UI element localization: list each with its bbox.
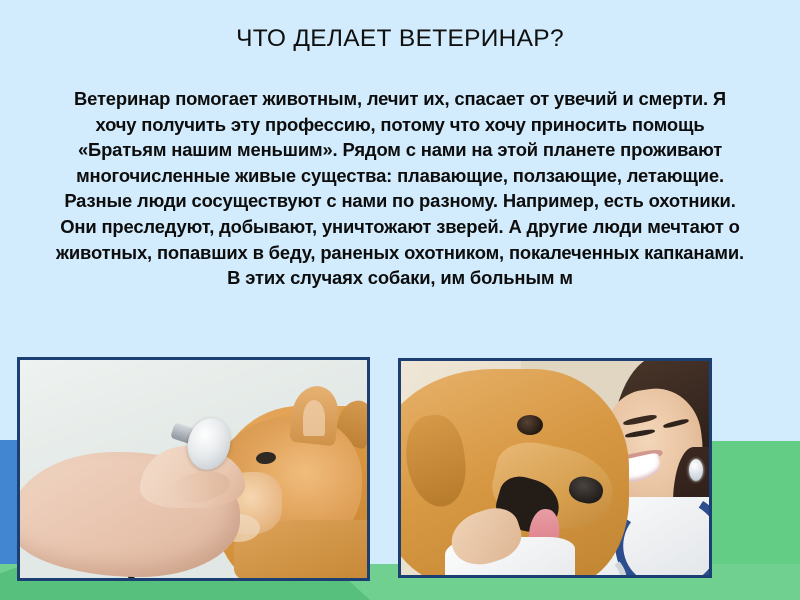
photo-cat-with-stethoscope <box>17 357 370 581</box>
photo-cat-content <box>20 360 367 578</box>
photo-vet-with-dog <box>398 358 712 578</box>
slide-body-text: Ветеринар помогает животным, лечит их, с… <box>52 86 748 291</box>
photo-vet-content <box>401 361 709 575</box>
dog-eye <box>517 415 543 435</box>
veterinarian-earring <box>689 459 703 481</box>
cat-ear-inner <box>303 400 325 436</box>
slide-title: ЧТО ДЕЛАЕТ ВЕТЕРИНАР? <box>0 26 800 53</box>
presentation-slide: ЧТО ДЕЛАЕТ ВЕТЕРИНАР? Ветеринар помогает… <box>0 0 800 600</box>
